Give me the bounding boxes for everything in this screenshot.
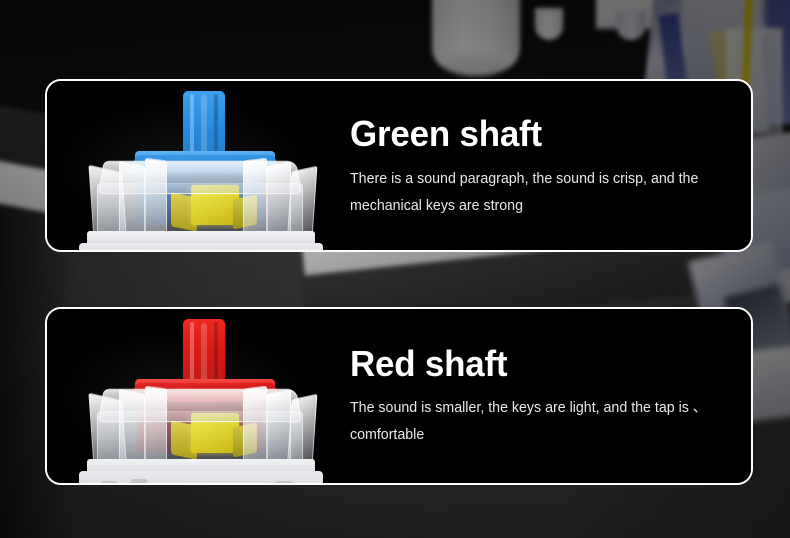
card-text-green: Green shaft There is a sound paragraph, … xyxy=(350,81,733,250)
card-title-red: Red shaft xyxy=(350,345,722,383)
switch-stem-rib xyxy=(201,95,207,157)
switch-stage-red xyxy=(65,309,335,483)
switch-stem-rib xyxy=(201,323,207,385)
card-text-red: Red shaft The sound is smaller, the keys… xyxy=(350,309,733,483)
card-inner-green: Green shaft There is a sound paragraph, … xyxy=(47,81,751,250)
red-switch-image xyxy=(47,309,347,483)
card-inner-red: Red shaft The sound is smaller, the keys… xyxy=(47,309,751,483)
switch-pins xyxy=(79,459,323,483)
feature-card-red-shaft[interactable]: Red shaft The sound is smaller, the keys… xyxy=(45,307,753,485)
card-title-green: Green shaft xyxy=(350,115,722,153)
blue-switch-image xyxy=(47,81,347,250)
feature-card-green-shaft[interactable]: Green shaft There is a sound paragraph, … xyxy=(45,79,753,252)
switch-pins xyxy=(79,231,323,250)
switch-stage-green xyxy=(65,81,335,250)
screenshot-root: Green shaft There is a sound paragraph, … xyxy=(0,0,790,538)
card-description-green: There is a sound paragraph, the sound is… xyxy=(350,166,718,220)
card-description-red: The sound is smaller, the keys are light… xyxy=(350,395,718,449)
